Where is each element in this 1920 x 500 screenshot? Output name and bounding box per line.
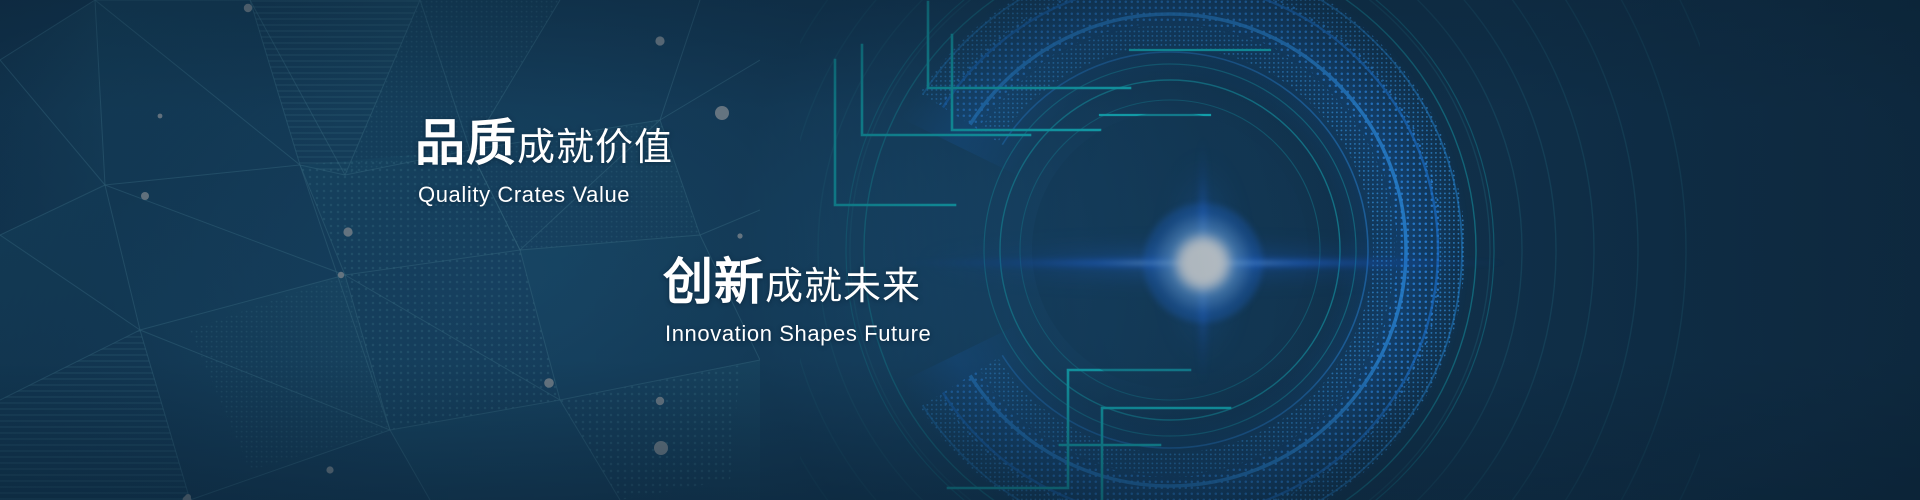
- slogan-innovation-en: Innovation Shapes Future: [665, 321, 931, 347]
- slogan-innovation-cn: 创新成就未来: [663, 257, 931, 307]
- slogan-quality: 品质成就价值 Quality Crates Value: [415, 118, 673, 208]
- hero-banner: 品质成就价值 Quality Crates Value 创新成就未来 Innov…: [0, 0, 1920, 500]
- slogan-innovation: 创新成就未来 Innovation Shapes Future: [663, 257, 931, 347]
- slogan-quality-en: Quality Crates Value: [418, 182, 673, 208]
- slogan-quality-cn-bold: 品质: [415, 115, 517, 171]
- slogan-quality-cn: 品质成就价值: [415, 118, 673, 168]
- tech-ring-graphic: [800, 0, 1700, 500]
- polygon-network-graphic: [0, 0, 760, 500]
- slogan-innovation-cn-bold: 创新: [663, 254, 765, 310]
- slogan-innovation-cn-light: 成就未来: [765, 266, 921, 308]
- slogan-quality-cn-light: 成就价值: [517, 127, 673, 169]
